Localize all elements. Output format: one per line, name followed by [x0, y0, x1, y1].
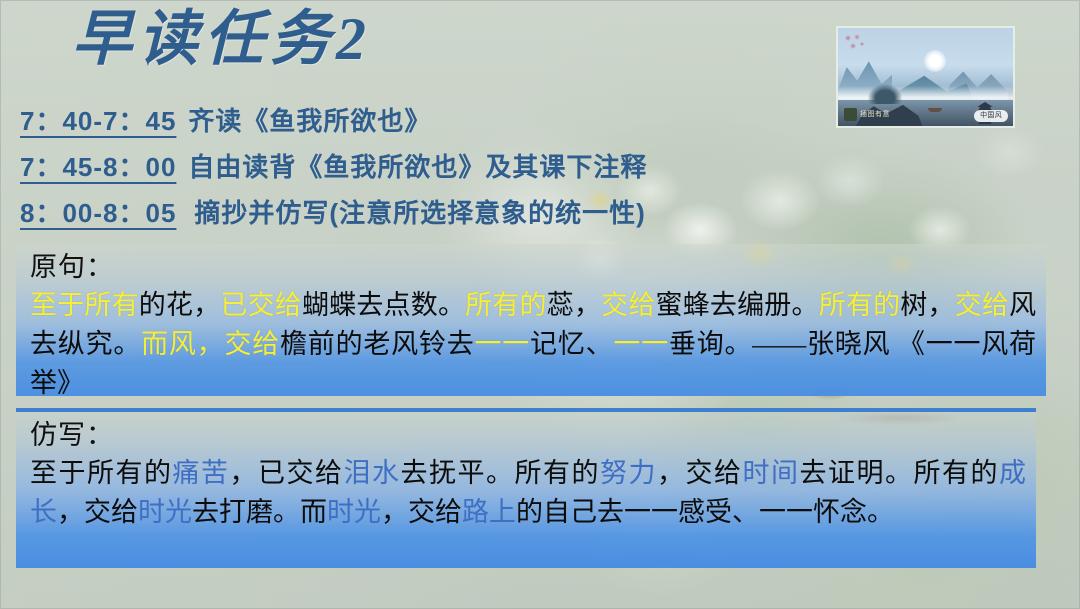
original-quote-segment: 蜜蜂去编册。 [656, 290, 819, 320]
schedule-list: 7：40-7：45 齐读《鱼我所欲也》 7：45-8：00 自由读背《鱼我所欲也… [20, 98, 1060, 236]
schedule-time-3: 8：00-8：05 [20, 190, 176, 236]
page-title: 早读任务2 [72, 8, 372, 71]
imitation-segment: ，交给 [657, 458, 743, 488]
imitation-segment: 努力 [600, 458, 657, 488]
original-quote-text: 至于所有的花，已交给蝴蝶去点数。所有的蕊，交给蜜蜂去编册。所有的树，交给风去纵究… [30, 286, 1036, 403]
original-quote-segment: 一一 [474, 329, 530, 359]
original-quote-segment: 蕊， [547, 290, 601, 320]
imitation-segment: 泪水 [344, 458, 401, 488]
imitation-text: 至于所有的痛苦，已交给泪水去抚平。所有的努力，交给时间去证明。所有的成长，交给时… [30, 454, 1026, 532]
schedule-task-3: 摘抄并仿写(注意所选择意象的统一性) [194, 190, 645, 236]
schedule-task-2: 自由读背《鱼我所欲也》及其课下注释 [188, 144, 647, 190]
schedule-task-1: 齐读《鱼我所欲也》 [188, 98, 431, 144]
original-quote-segment: 已交给 [220, 290, 302, 320]
schedule-time-1: 7：40-7：45 [20, 98, 176, 144]
imitation-segment: ，交给 [57, 497, 138, 527]
original-quote-segment: 交给 [601, 290, 655, 320]
schedule-row-1: 7：40-7：45 齐读《鱼我所欲也》 [20, 98, 1060, 144]
original-quote-segment: 而风， [141, 329, 224, 359]
schedule-row-3: 8：00-8：05 摘抄并仿写(注意所选择意象的统一性) [20, 190, 1060, 236]
slide-canvas: 早读任务2 插图有意 中国风 7：40-7：45 齐读《鱼我所欲也》 7：45-… [0, 0, 1080, 609]
original-label: 原句： [30, 248, 1036, 286]
imitation-segment: 路上 [462, 497, 516, 527]
original-quote-block: 原句： 至于所有的花，已交给蝴蝶去点数。所有的蕊，交给蜜蜂去编册。所有的树，交给… [16, 244, 1046, 396]
original-quote-segment: 交给 [955, 290, 1009, 320]
imitation-segment: 去打磨。而 [192, 497, 327, 527]
imitation-segment: ，已交给 [230, 458, 344, 488]
original-quote-segment: 至于所有 [30, 290, 139, 320]
original-quote-segment: 交给 [224, 329, 280, 359]
original-quote-segment: 记忆、 [530, 329, 613, 359]
imitation-segment: 时光 [138, 497, 192, 527]
imitation-segment: 至于所有的 [30, 458, 173, 488]
imitation-segment: 时光 [327, 497, 381, 527]
original-quote-segment: 树， [900, 290, 954, 320]
imitation-segment: 时间 [743, 458, 800, 488]
imitation-block: 仿写： 至于所有的痛苦，已交给泪水去抚平。所有的努力，交给时间去证明。所有的成长… [16, 408, 1036, 568]
moon-icon [924, 50, 946, 72]
original-quote-segment: 所有的 [465, 290, 547, 320]
imitation-segment: 去证明。所有的 [800, 458, 1000, 488]
blossom-icon [844, 34, 868, 56]
original-quote-segment: 蝴蝶去点数。 [302, 290, 465, 320]
original-quote-segment: 所有的 [819, 290, 901, 320]
imitation-segment: ，交给 [381, 497, 462, 527]
imitation-label: 仿写： [30, 416, 1026, 454]
schedule-row-2: 7：45-8：00 自由读背《鱼我所欲也》及其课下注释 [20, 144, 1060, 190]
schedule-time-2: 7：45-8：00 [20, 144, 176, 190]
imitation-segment: 去抚平。所有的 [401, 458, 601, 488]
original-quote-segment: 檐前的老风铃去 [280, 329, 474, 359]
original-quote-segment: 一一 [613, 329, 669, 359]
original-quote-segment: 的花， [139, 290, 221, 320]
imitation-segment: 痛苦 [173, 458, 230, 488]
imitation-segment: 的自己去一一感受、一一怀念。 [516, 497, 894, 527]
